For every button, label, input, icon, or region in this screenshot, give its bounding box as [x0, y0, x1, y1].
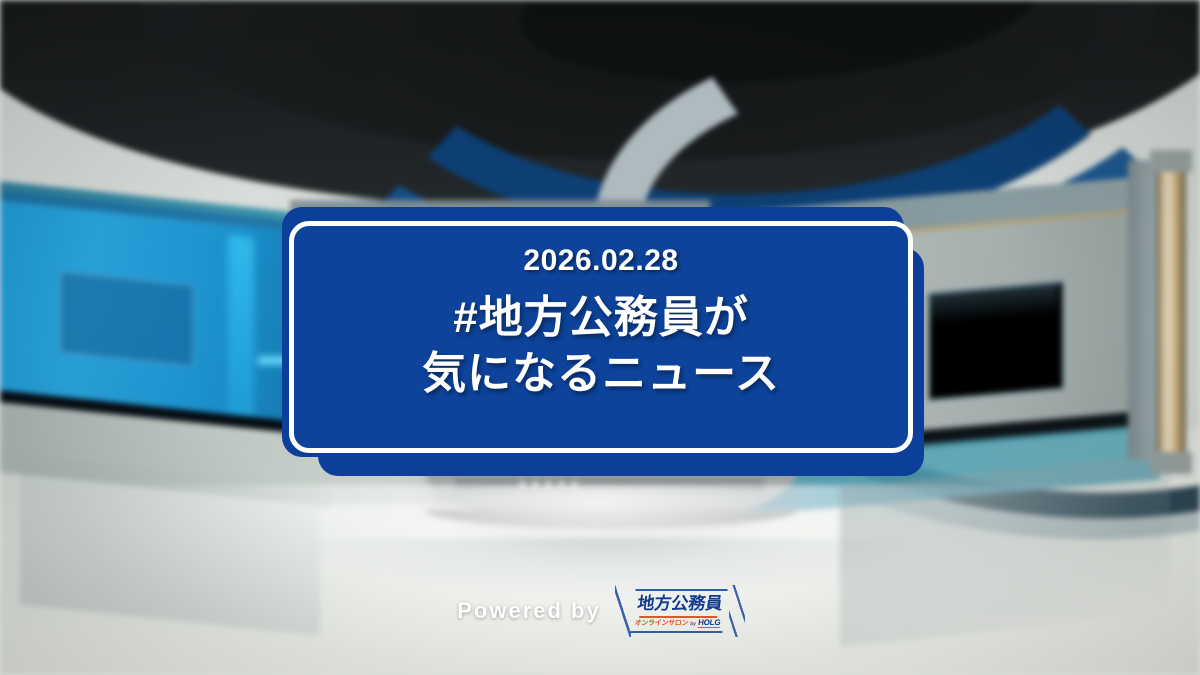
logo-subtitle: オンラインサロン by HOLG: [634, 619, 721, 628]
card-date: 2026.02.28: [523, 246, 678, 276]
logo-main-text: 地方公務員: [636, 594, 723, 614]
powered-by-label: Powered by: [457, 598, 600, 624]
logo-subtitle-brand: HOLG: [697, 619, 720, 628]
powered-by-footer: Powered by 地方公務員 オンラインサロン by HOLG: [0, 583, 1200, 639]
card-headline: #地方公務員が 気になるニュース: [422, 290, 780, 403]
card-headline-line-1: #地方公務員が: [422, 290, 780, 346]
logo-slash-left-icon: [615, 585, 631, 637]
logo-subtitle-by: by: [690, 622, 696, 627]
thumbnail-canvas: 2026.02.28 #地方公務員が 気になるニュース Powered by 地…: [0, 0, 1200, 675]
logo-slash-right-icon: [729, 585, 745, 637]
card-headline-line-2: 気になるニュース: [422, 346, 780, 402]
title-card-group: 2026.02.28 #地方公務員が 気になるニュース: [0, 0, 1200, 675]
logo-rule-bottom: [630, 631, 722, 633]
logo-inner: 地方公務員 オンラインサロン by HOLG: [630, 589, 727, 633]
holg-logo[interactable]: 地方公務員 オンラインサロン by HOLG: [615, 583, 743, 639]
title-card: 2026.02.28 #地方公務員が 気になるニュース: [289, 221, 913, 453]
logo-subtitle-jp: オンラインサロン: [634, 620, 688, 627]
logo-rule-top: [635, 589, 727, 591]
